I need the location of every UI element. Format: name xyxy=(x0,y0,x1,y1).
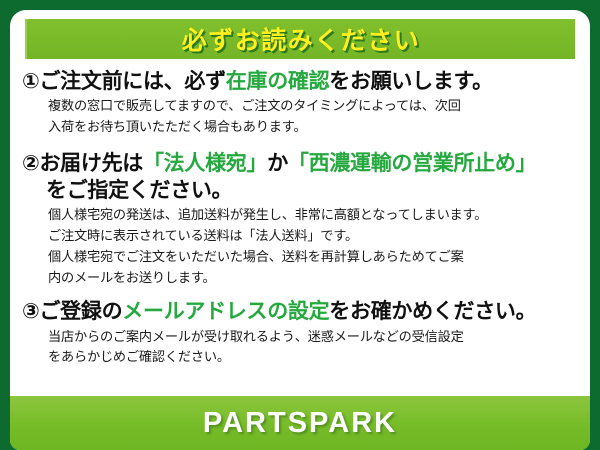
brand-wordmark: PARTSPARK xyxy=(203,407,397,440)
heading-text: お届け先は xyxy=(39,152,143,175)
notice-item-heading-line2: をご指定ください。 xyxy=(46,177,578,204)
heading-emphasis-text: 「法人様宛」 xyxy=(143,152,267,175)
heading-emphasis-text: 「西濃運輸の営業所止め」 xyxy=(288,152,536,175)
notice-item-body-line: 個人様宅宛の発送は、追加送料が発生し、非常に高額となってしまいます。 xyxy=(48,206,578,225)
notice-item-body-line: 当店からのご案内メールが受け取れるよう、迷惑メールなどの受信設定 xyxy=(48,328,578,347)
notice-banner: 必ずお読みください ①ご注文前には、必ず在庫の確認をお願いします。複数の窓口で販… xyxy=(0,0,600,450)
notice-item: ②お届け先は「法人様宛」か「西濃運輸の営業所止め」をご指定ください。個人様宅宛の… xyxy=(22,150,578,288)
notice-item-body-line: 複数の窓口で販売してますので、ご注文のタイミングによっては、次回 xyxy=(48,97,578,116)
notice-item-number: ① xyxy=(22,70,39,93)
notice-item-body-line: 入荷をお待ち頂いたただく場合もあります。 xyxy=(48,118,578,137)
heading-emphasis-text: メールアドレスの設定 xyxy=(122,300,329,323)
heading-text: ご注文前には、必ず xyxy=(39,70,225,93)
notice-item-body-line: 内のメールをお送りします。 xyxy=(48,269,578,288)
heading-text: か xyxy=(267,152,288,175)
heading-text: ご登録の xyxy=(39,300,122,323)
notice-item-heading: ②お届け先は「法人様宛」か「西濃運輸の営業所止め」 xyxy=(22,150,578,177)
notice-item-body-line: ご注文時に表示されている送料は「法人送料」です。 xyxy=(48,227,578,246)
notice-item: ③ご登録のメールアドレスの設定をお確かめください。当店からのご案内メールが受け取… xyxy=(22,298,578,367)
notice-item-body-line: 個人様宅宛でご注文をいただいた場合、送料を再計算しあらためてご案 xyxy=(48,248,578,267)
notice-item: ①ご注文前には、必ず在庫の確認をお願いします。複数の窓口で販売してますので、ご注… xyxy=(22,68,578,137)
notice-item-heading: ③ご登録のメールアドレスの設定をお確かめください。 xyxy=(22,298,578,325)
notice-item-number: ② xyxy=(22,152,39,175)
notice-item-body-line: をあらかじめご確認ください。 xyxy=(48,348,578,367)
notice-item-heading: ①ご注文前には、必ず在庫の確認をお願いします。 xyxy=(22,68,578,95)
notice-header-bar: 必ずお読みください xyxy=(25,19,575,59)
heading-emphasis-text: 在庫の確認 xyxy=(226,70,330,93)
notice-item-number: ③ xyxy=(22,300,39,323)
notice-items-list: ①ご注文前には、必ず在庫の確認をお願いします。複数の窓口で販売してますので、ご注… xyxy=(10,59,590,396)
heading-text: をお確かめください。 xyxy=(329,300,536,323)
heading-text: をお願いします。 xyxy=(329,70,493,93)
brand-footer-bar: PARTSPARK xyxy=(10,396,590,450)
notice-panel: 必ずお読みください ①ご注文前には、必ず在庫の確認をお願いします。複数の窓口で販… xyxy=(10,10,590,450)
notice-header-title: 必ずお読みください xyxy=(182,21,421,57)
